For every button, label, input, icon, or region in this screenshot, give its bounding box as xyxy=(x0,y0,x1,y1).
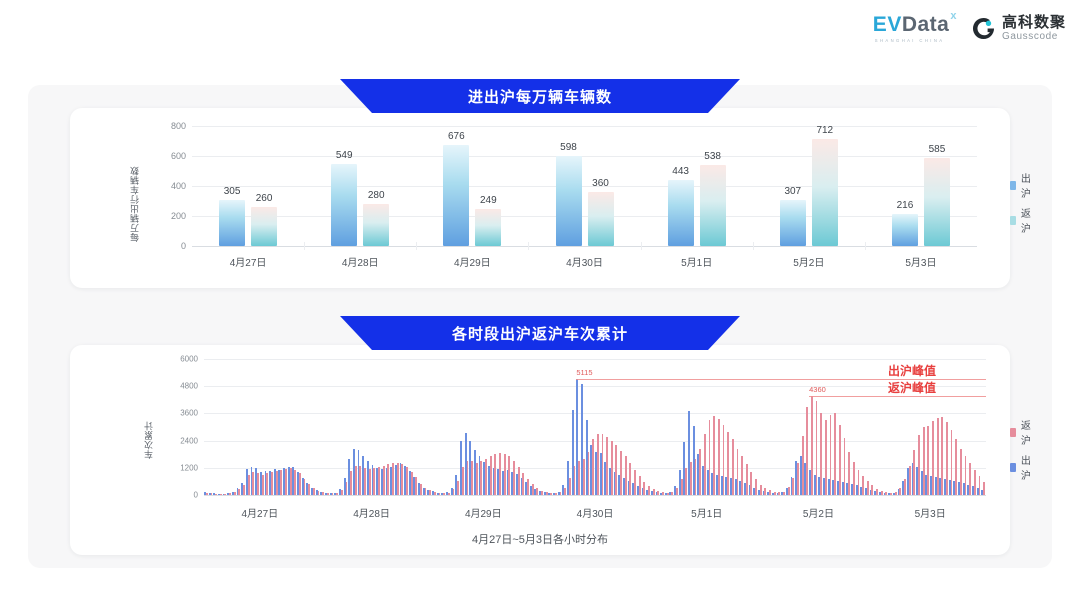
hourly-bar-back[interactable] xyxy=(252,472,254,495)
bar-value-label: 360 xyxy=(592,178,609,189)
hourly-chart-caption: 4月27日~5月3日各小时分布 xyxy=(70,531,1010,547)
hourly-chart-y-axis-title: 车次累计 xyxy=(142,389,155,459)
hourly-bar-back[interactable] xyxy=(629,463,631,495)
hourly-bar-back[interactable] xyxy=(783,492,785,495)
bar-chart-y-tick: 800 xyxy=(152,121,186,131)
bar-chart-x-tick: 5月1日 xyxy=(681,254,712,269)
hourly-bar-back[interactable] xyxy=(597,434,599,495)
legend-swatch xyxy=(1010,216,1016,225)
hourly-bar-back[interactable] xyxy=(899,488,901,495)
hourly-bar-back[interactable] xyxy=(969,463,971,495)
hourly-chart-x-tick: 5月3日 xyxy=(915,505,946,520)
hourly-bar-back[interactable] xyxy=(862,476,864,495)
bar-chart-baseline xyxy=(192,246,977,247)
hourly-bar-back[interactable] xyxy=(774,492,776,495)
hourly-bar-back[interactable] xyxy=(848,452,850,495)
hourly-chart-x-tick: 4月28日 xyxy=(353,505,390,520)
hourly-bar-back[interactable] xyxy=(532,484,534,495)
bar-out[interactable]: 305 xyxy=(219,200,245,246)
hourly-bar-back[interactable] xyxy=(769,490,771,495)
gausscode-name-en: Gausscode xyxy=(1002,32,1066,42)
hourly-bar-back[interactable] xyxy=(220,494,222,495)
hourly-bar-back[interactable] xyxy=(979,476,981,495)
hourly-bar-back[interactable] xyxy=(811,396,813,495)
hourly-bar-back[interactable] xyxy=(760,485,762,495)
hourly-bar-back[interactable] xyxy=(844,438,846,495)
hourly-bar-back[interactable] xyxy=(615,445,617,495)
hourly-bar-back[interactable] xyxy=(909,466,911,495)
hourly-bar-back[interactable] xyxy=(704,434,706,495)
legend-label: 出沪 xyxy=(1021,452,1034,482)
hourly-bar-back[interactable] xyxy=(923,427,925,495)
hourly-bar-back[interactable] xyxy=(746,464,748,495)
bar-chart-x-tick: 4月30日 xyxy=(566,254,603,269)
hourly-chart-y-tick: 2400 xyxy=(164,436,198,445)
hourly-bar-back[interactable] xyxy=(927,426,929,495)
hourly-bar-back[interactable] xyxy=(792,478,794,495)
bar-back[interactable]: 538 xyxy=(700,165,726,246)
hourly-bar-back[interactable] xyxy=(224,494,226,495)
hourly-bar-back[interactable] xyxy=(271,472,273,495)
hourly-bar-back[interactable] xyxy=(955,439,957,495)
hourly-chart-x-tick: 5月2日 xyxy=(803,505,834,520)
legend-item[interactable]: 出沪 xyxy=(1010,170,1034,200)
bar-value-label: 676 xyxy=(448,131,465,142)
bar-chart-title-banner: 进出沪每万辆车辆数 xyxy=(340,79,740,113)
hourly-bar-back[interactable] xyxy=(806,407,808,495)
hourly-bar-back[interactable] xyxy=(918,435,920,495)
hourly-bar-back[interactable] xyxy=(504,454,506,495)
bar-chart-x-tick: 5月3日 xyxy=(905,254,936,269)
hourly-bar-back[interactable] xyxy=(434,492,436,495)
bar-out[interactable]: 216 xyxy=(892,214,918,246)
hourly-bar-back[interactable] xyxy=(602,434,604,495)
hourly-bar-back[interactable] xyxy=(378,467,380,495)
hourly-bar-back[interactable] xyxy=(839,425,841,495)
hourly-bar-back[interactable] xyxy=(695,459,697,495)
hourly-bar-back[interactable] xyxy=(350,471,352,495)
hourly-bar-back[interactable] xyxy=(211,493,213,495)
legend-swatch xyxy=(1010,181,1016,190)
hourly-bar-back[interactable] xyxy=(238,489,240,495)
bar-back[interactable]: 585 xyxy=(924,158,950,246)
hourly-chart-x-tick: 4月27日 xyxy=(242,505,279,520)
hourly-bar-back[interactable] xyxy=(574,466,576,495)
hourly-bar-back[interactable] xyxy=(555,493,557,495)
hourly-bar-back[interactable] xyxy=(895,492,897,495)
hourly-bar-back[interactable] xyxy=(639,476,641,495)
hourly-bar-back[interactable] xyxy=(941,417,943,495)
hourly-bar-back[interactable] xyxy=(564,488,566,495)
bar-back[interactable]: 260 xyxy=(251,207,277,246)
hourly-bar-back[interactable] xyxy=(490,456,492,495)
hourly-bar-back[interactable] xyxy=(820,413,822,495)
hourly-bar-back[interactable] xyxy=(620,451,622,495)
bar-chart-category-separator xyxy=(304,242,305,250)
hourly-bar-back[interactable] xyxy=(913,450,915,495)
legend-label: 返沪 xyxy=(1021,417,1034,447)
hourly-bar-back[interactable] xyxy=(243,485,245,495)
hourly-bar-back[interactable] xyxy=(797,463,799,495)
hourly-bar-back[interactable] xyxy=(974,470,976,495)
evdata-cross-icon: x xyxy=(950,11,957,22)
legend-item[interactable]: 出沪 xyxy=(1010,452,1034,482)
hourly-bar-back[interactable] xyxy=(662,492,664,495)
hourly-bar-back[interactable] xyxy=(397,463,399,495)
hourly-bar-back[interactable] xyxy=(206,493,208,495)
hourly-bar-back[interactable] xyxy=(764,488,766,495)
hourly-chart-baseline xyxy=(204,495,986,496)
peak-annotation-label: 出沪峰值 xyxy=(888,362,936,379)
hourly-bar-back[interactable] xyxy=(346,482,348,495)
bar-back[interactable]: 249 xyxy=(475,209,501,246)
hourly-bar-back[interactable] xyxy=(634,470,636,495)
peak-annotation-label: 返沪峰值 xyxy=(888,379,936,396)
hourly-bar-back[interactable] xyxy=(676,488,678,495)
hourly-bar-back[interactable] xyxy=(215,494,217,495)
hourly-bar-back[interactable] xyxy=(401,464,403,495)
hourly-bar-back[interactable] xyxy=(699,449,701,495)
bar-value-label: 585 xyxy=(929,144,946,155)
hourly-bar-back[interactable] xyxy=(341,490,343,495)
hourly-bar-back[interactable] xyxy=(425,488,427,495)
bar-value-label: 280 xyxy=(368,190,385,201)
bar-out[interactable]: 307 xyxy=(780,200,806,246)
hourly-bar-back[interactable] xyxy=(313,488,315,495)
bar-chart-plot-area: 3052605492806762495983604435383077122165… xyxy=(192,126,977,246)
hourly-bar-back[interactable] xyxy=(290,468,292,495)
hourly-bar-back[interactable] xyxy=(485,459,487,495)
hourly-chart-title-banner: 各时段出沪返沪车次累计 xyxy=(340,316,740,350)
bar-out[interactable]: 549 xyxy=(331,164,357,246)
evdata-letter-v: V xyxy=(887,14,902,35)
hourly-bar-back[interactable] xyxy=(885,492,887,495)
evdata-wordmark: EVDatax xyxy=(873,14,957,35)
hourly-bar-back[interactable] xyxy=(355,466,357,495)
hourly-bar-back[interactable] xyxy=(830,415,832,495)
hourly-bar-back[interactable] xyxy=(606,437,608,495)
hourly-chart-x-tick: 5月1日 xyxy=(691,505,722,520)
bar-value-label: 249 xyxy=(480,195,497,206)
gausscode-logo: 高科数聚 Gausscode xyxy=(971,15,1066,42)
hourly-bar-back[interactable] xyxy=(415,477,417,495)
hourly-bar-back[interactable] xyxy=(513,461,515,495)
hourly-bar-back[interactable] xyxy=(569,478,571,495)
hourly-bar-back[interactable] xyxy=(453,489,455,495)
hourly-bar-back[interactable] xyxy=(718,419,720,495)
gausscode-text: 高科数聚 Gausscode xyxy=(1002,15,1066,42)
hourly-bar-back[interactable] xyxy=(657,491,659,495)
hourly-bar-back[interactable] xyxy=(741,456,743,495)
hourly-bar-back[interactable] xyxy=(294,470,296,495)
hourly-bar-back[interactable] xyxy=(299,473,301,495)
hourly-bar-back[interactable] xyxy=(443,493,445,495)
hourly-bar-back[interactable] xyxy=(327,493,329,495)
brand-bar: EVDatax SHANGHAI CHINA 高科数聚 Gausscode xyxy=(873,14,1066,43)
hourly-bar-back[interactable] xyxy=(518,467,520,495)
hourly-bar-back[interactable] xyxy=(876,489,878,495)
legend-label: 返沪 xyxy=(1021,205,1034,235)
bar-value-label: 443 xyxy=(672,166,689,177)
hourly-bar-back[interactable] xyxy=(578,461,580,495)
hourly-bar-back[interactable] xyxy=(336,493,338,495)
peak-value-label: 5115 xyxy=(576,368,592,377)
hourly-bar-back[interactable] xyxy=(737,449,739,495)
hourly-chart-x-tick: 4月29日 xyxy=(465,505,502,520)
hourly-bar-back[interactable] xyxy=(588,452,590,495)
bar-out[interactable]: 676 xyxy=(443,145,469,246)
hourly-bar-back[interactable] xyxy=(369,469,371,495)
bar-chart-y-tick: 200 xyxy=(152,211,186,221)
bar-back[interactable]: 712 xyxy=(812,139,838,246)
hourly-bar-back[interactable] xyxy=(411,472,413,495)
hourly-bar-back[interactable] xyxy=(690,462,692,495)
hourly-bar-back[interactable] xyxy=(457,481,459,496)
bar-chart-category-separator xyxy=(416,242,417,250)
hourly-chart-legend: 返沪出沪 xyxy=(1010,417,1034,482)
legend-swatch xyxy=(1010,463,1016,472)
hourly-bar-back[interactable] xyxy=(364,468,366,495)
hourly-bar-back[interactable] xyxy=(611,441,613,495)
legend-swatch xyxy=(1010,428,1016,437)
hourly-bar-back[interactable] xyxy=(439,493,441,495)
hourly-bar-back[interactable] xyxy=(550,493,552,495)
hourly-chart-y-tick: 1200 xyxy=(164,463,198,472)
hourly-bar-back[interactable] xyxy=(960,449,962,495)
evdata-logo: EVDatax SHANGHAI CHINA xyxy=(873,14,957,43)
hourly-bar-back[interactable] xyxy=(429,490,431,495)
bar-chart-y-tick: 0 xyxy=(152,241,186,251)
bar-chart-category-separator xyxy=(528,242,529,250)
hourly-bar-back[interactable] xyxy=(825,420,827,495)
bar-chart: 每万辆出行车辆数 0200400600800 30526054928067624… xyxy=(70,108,1010,288)
hourly-bar-back[interactable] xyxy=(257,473,259,495)
hourly-bar-back[interactable] xyxy=(816,401,818,495)
hourly-bar-back[interactable] xyxy=(541,491,543,495)
hourly-bar-back[interactable] xyxy=(308,484,310,495)
hourly-bar-back[interactable] xyxy=(280,470,282,495)
hourly-bar-back[interactable] xyxy=(625,456,627,495)
hourly-bar-back[interactable] xyxy=(871,485,873,495)
hourly-bar-back[interactable] xyxy=(373,468,375,495)
hourly-bar-back[interactable] xyxy=(262,475,264,495)
bar-out[interactable]: 443 xyxy=(668,180,694,246)
hourly-bar-back[interactable] xyxy=(778,492,780,495)
hourly-bar-back[interactable] xyxy=(681,479,683,495)
bar-chart-category-separator xyxy=(641,242,642,250)
hourly-bar-back[interactable] xyxy=(359,466,361,495)
hourly-bar-back[interactable] xyxy=(685,468,687,495)
bar-chart-panel: 每万辆出行车辆数 0200400600800 30526054928067624… xyxy=(70,108,1010,288)
hourly-bar-back[interactable] xyxy=(723,425,725,495)
hourly-chart-y-tick: 4800 xyxy=(164,382,198,391)
hourly-bar-back[interactable] xyxy=(802,436,804,495)
hourly-bar-back[interactable] xyxy=(285,469,287,495)
hourly-bar-back[interactable] xyxy=(508,456,510,495)
hourly-bar-back[interactable] xyxy=(904,479,906,495)
bar-chart-y-tick: 600 xyxy=(152,151,186,161)
hourly-bar-back[interactable] xyxy=(499,453,501,495)
bar-chart-category-separator xyxy=(753,242,754,250)
bar-value-label: 712 xyxy=(816,125,833,136)
peak-reference-line xyxy=(809,396,986,397)
hourly-bar-back[interactable] xyxy=(494,454,496,495)
bar-chart-y-tick: 400 xyxy=(152,181,186,191)
hourly-chart-x-tick: 4月30日 xyxy=(577,505,614,520)
hourly-bar-back[interactable] xyxy=(671,492,673,495)
hourly-bar-back[interactable] xyxy=(462,467,464,495)
hourly-bar-back[interactable] xyxy=(592,439,594,495)
hourly-bar-back[interactable] xyxy=(467,461,469,495)
hourly-bar-back[interactable] xyxy=(643,482,645,495)
bar-chart-x-tick: 4月28日 xyxy=(342,254,379,269)
hourly-bar-back[interactable] xyxy=(420,484,422,495)
hourly-bar-back[interactable] xyxy=(788,487,790,495)
evdata-letter-e: E xyxy=(873,14,888,35)
hourly-bar-back[interactable] xyxy=(471,461,473,495)
hourly-bar-back[interactable] xyxy=(406,467,408,495)
bar-value-label: 216 xyxy=(897,200,914,211)
hourly-bar-back[interactable] xyxy=(229,493,231,495)
hourly-bar-back[interactable] xyxy=(951,430,953,495)
hourly-bar-back[interactable] xyxy=(834,413,836,495)
hourly-bar-back[interactable] xyxy=(732,439,734,495)
bar-chart-x-tick: 5月2日 xyxy=(793,254,824,269)
evdata-tagline: SHANGHAI CHINA xyxy=(875,38,945,43)
bar-back[interactable]: 360 xyxy=(588,192,614,246)
bar-value-label: 260 xyxy=(256,193,273,204)
hourly-bar-back[interactable] xyxy=(234,492,236,495)
bar-value-label: 538 xyxy=(704,151,721,162)
hourly-bar-back[interactable] xyxy=(750,472,752,495)
hourly-chart-panel: 车次累计 012002400360048006000 4月27日4月28日4月2… xyxy=(70,345,1010,555)
hourly-bar-back[interactable] xyxy=(522,473,524,495)
hourly-chart: 车次累计 012002400360048006000 4月27日4月28日4月2… xyxy=(70,345,1010,555)
peak-value-label: 4360 xyxy=(809,385,826,394)
hourly-bar-back[interactable] xyxy=(653,489,655,495)
hourly-bar-back[interactable] xyxy=(480,461,482,495)
hourly-bar-back[interactable] xyxy=(583,459,585,495)
bar-chart-legend: 出沪返沪 xyxy=(1010,170,1034,235)
hourly-bar-back[interactable] xyxy=(867,481,869,495)
hourly-bar-back[interactable] xyxy=(392,463,394,495)
bar-value-label: 549 xyxy=(336,150,353,161)
hourly-bar-back[interactable] xyxy=(276,471,278,495)
hourly-chart-y-tick: 6000 xyxy=(164,355,198,364)
hourly-bar-back[interactable] xyxy=(667,493,669,495)
bar-back[interactable]: 280 xyxy=(363,204,389,246)
hourly-chart-y-tick: 0 xyxy=(164,491,198,500)
hourly-bar-back[interactable] xyxy=(755,479,757,495)
hourly-bar-back[interactable] xyxy=(527,479,529,495)
bar-chart-y-axis-title: 每万辆出行车辆数 xyxy=(128,132,141,242)
hourly-bar-back[interactable] xyxy=(890,493,892,495)
bar-value-label: 307 xyxy=(784,186,801,197)
bar-chart-x-tick: 4月27日 xyxy=(230,254,267,269)
hourly-bar-back[interactable] xyxy=(546,492,548,495)
hourly-bar-back[interactable] xyxy=(709,420,711,495)
evdata-letter-data: Data xyxy=(902,14,950,35)
bar-value-label: 305 xyxy=(224,186,241,197)
hourly-bar-back[interactable] xyxy=(727,432,729,495)
gausscode-mark-icon xyxy=(971,16,996,41)
legend-item[interactable]: 返沪 xyxy=(1010,417,1034,447)
hourly-bar-back[interactable] xyxy=(248,475,250,495)
gausscode-name-cn: 高科数聚 xyxy=(1002,15,1066,30)
hourly-bar-back[interactable] xyxy=(383,466,385,495)
hourly-bar-back[interactable] xyxy=(881,491,883,495)
hourly-bar-back[interactable] xyxy=(322,492,324,495)
hourly-bar-back[interactable] xyxy=(332,493,334,495)
hourly-bar-back[interactable] xyxy=(536,488,538,495)
page-root: EVDatax SHANGHAI CHINA 高科数聚 Gausscode 进出… xyxy=(0,0,1080,608)
legend-item[interactable]: 返沪 xyxy=(1010,205,1034,235)
hourly-bar-back[interactable] xyxy=(937,418,939,495)
bar-chart-x-tick: 4月29日 xyxy=(454,254,491,269)
hourly-bar-back[interactable] xyxy=(648,486,650,495)
hourly-bar-back[interactable] xyxy=(858,470,860,495)
hourly-bar-back[interactable] xyxy=(387,464,389,495)
hourly-bar-back[interactable] xyxy=(932,421,934,495)
hourly-bar-back[interactable] xyxy=(318,491,320,495)
bar-chart-category-separator xyxy=(865,242,866,250)
hourly-bar-back[interactable] xyxy=(448,493,450,495)
hourly-bar-back[interactable] xyxy=(560,492,562,495)
hourly-bar-back[interactable] xyxy=(266,473,268,495)
legend-label: 出沪 xyxy=(1021,170,1034,200)
hourly-chart-y-tick: 3600 xyxy=(164,409,198,418)
hourly-bar-back[interactable] xyxy=(965,456,967,495)
bar-value-label: 598 xyxy=(560,142,577,153)
hourly-bar-back[interactable] xyxy=(853,462,855,495)
bar-out[interactable]: 598 xyxy=(556,156,582,246)
hourly-bar-back[interactable] xyxy=(304,479,306,495)
hourly-bar-back[interactable] xyxy=(476,463,478,495)
hourly-bar-back[interactable] xyxy=(713,416,715,495)
hourly-bar-back[interactable] xyxy=(983,482,985,495)
hourly-bar-back[interactable] xyxy=(946,422,948,495)
